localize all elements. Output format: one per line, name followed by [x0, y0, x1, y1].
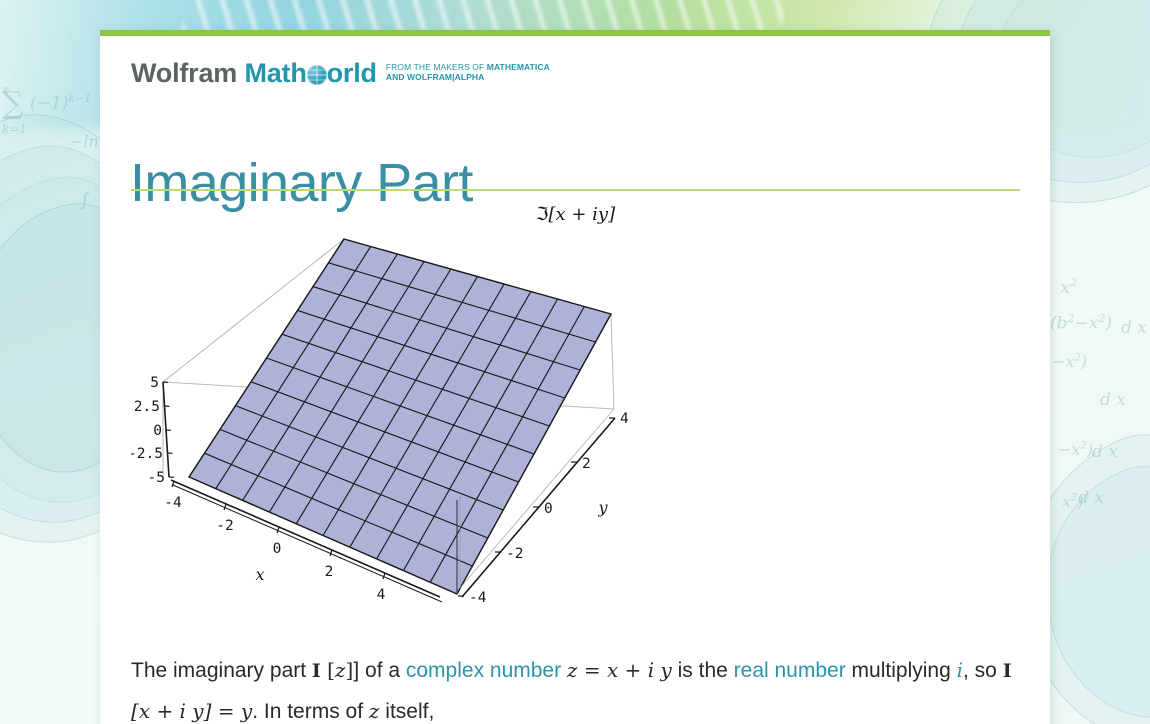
y-tick-0: 4 — [620, 411, 629, 427]
im-operator-2: I — [1003, 660, 1012, 682]
surface-plot-figure[interactable]: ℑ[x + iy] — [131, 196, 1020, 621]
surface-plane — [189, 239, 611, 594]
body-paragraph: The imaginary part I [z]] of a complex n… — [131, 650, 1031, 724]
site-tagline: FROM THE MAKERS OF MATHEMATICA AND WOLFR… — [386, 63, 550, 83]
text-segment-1: The imaginary part — [131, 659, 312, 682]
text-segment-7: , so — [963, 659, 1003, 682]
surface-plot-svg: 5 2.5 0 -2.5 -5 — [131, 196, 1020, 621]
tagline-line2-bold: WOLFRAM|ALPHA — [407, 72, 484, 82]
text-segment-2: [ — [321, 658, 335, 682]
x-tick-2: 0 — [273, 541, 282, 557]
background-formula-watermark-8: (b2−x2) — [1050, 312, 1112, 334]
z-tick-3: -2.5 — [131, 446, 163, 462]
background-formula-watermark-10: −x2) — [1052, 352, 1087, 371]
x-axis-label: x — [255, 565, 264, 584]
z-axis-tick-labels: 5 2.5 0 -2.5 -5 — [131, 375, 165, 486]
z-tick-2: 0 — [153, 423, 162, 439]
equation-inline-2: [x + i y] = y — [131, 699, 252, 723]
y-tick-1: 2 — [582, 456, 591, 472]
z-tick-0: 5 — [150, 375, 159, 391]
link-real-number[interactable]: real number — [734, 659, 846, 682]
tagline-line1-bold: MATHEMATICA — [487, 62, 550, 72]
background-formula-watermark-9: d x — [1121, 318, 1147, 338]
text-segment-5: is the — [672, 659, 734, 682]
background-formula-watermark-5: −ln — [70, 132, 99, 151]
variable-z-1: z — [335, 658, 346, 682]
background-formula-watermark-6: ∫ — [80, 190, 89, 211]
site-masthead[interactable]: Wolfram Mathorld FROM THE MAKERS OF MATH… — [131, 60, 550, 87]
tagline-line1-lead: FROM THE MAKERS OF — [386, 62, 487, 72]
y-tick-4: -4 — [469, 590, 487, 606]
im-operator-1: I — [312, 660, 321, 682]
page-root: ∑ ∞ (−1)k−1 k=1 −ln ∫ x2 (b2−x2) d x −x2… — [0, 0, 1150, 724]
background-formula-watermark-12: −x2) — [1058, 440, 1093, 459]
y-tick-2: 0 — [544, 501, 553, 517]
text-segment-6: multiplying — [846, 659, 957, 682]
text-segment-8: . In terms of — [252, 700, 369, 723]
background-formula-watermark-13: d x — [1092, 442, 1118, 462]
text-segment-9: itself, — [379, 700, 434, 723]
background-formula-watermark-4: k=1 — [2, 122, 27, 136]
background-formula-watermark-3: (−1)k−1 — [30, 92, 91, 114]
link-complex-number[interactable]: complex number — [406, 659, 561, 682]
z-tick-1: 2.5 — [134, 399, 160, 415]
tagline-line2-lead: AND — [386, 72, 407, 82]
background-formula-watermark-2: ∞ — [1, 82, 11, 96]
z-tick-4: -5 — [148, 470, 165, 486]
x-tick-3: 2 — [325, 564, 334, 580]
x-tick-1: -2 — [216, 518, 233, 534]
globe-icon — [307, 65, 327, 85]
text-segment-4: ] of a — [353, 659, 406, 682]
logo-word-math: Math — [244, 58, 306, 88]
equation-inline-1: z = x + i y — [567, 658, 672, 682]
x-tick-0: -4 — [164, 495, 182, 511]
variable-z-2: z — [369, 699, 380, 723]
logo-word-wolfram: Wolfram — [131, 58, 237, 88]
background-formula-watermark-7: x2 — [1060, 276, 1077, 298]
wolfram-mathworld-logo[interactable]: Wolfram Mathorld — [131, 60, 377, 87]
y-tick-3: -2 — [506, 546, 523, 562]
z-axis: 5 2.5 0 -2.5 -5 — [131, 375, 174, 486]
logo-word-world: orld — [327, 58, 377, 88]
background-formula-watermark-15: d x — [1078, 488, 1104, 508]
content-card: Wolfram Mathorld FROM THE MAKERS OF MATH… — [100, 30, 1050, 724]
x-tick-4: 4 — [377, 587, 386, 603]
background-formula-watermark-11: d x — [1100, 390, 1126, 410]
title-divider — [131, 189, 1020, 191]
y-axis-label: y — [597, 498, 608, 517]
